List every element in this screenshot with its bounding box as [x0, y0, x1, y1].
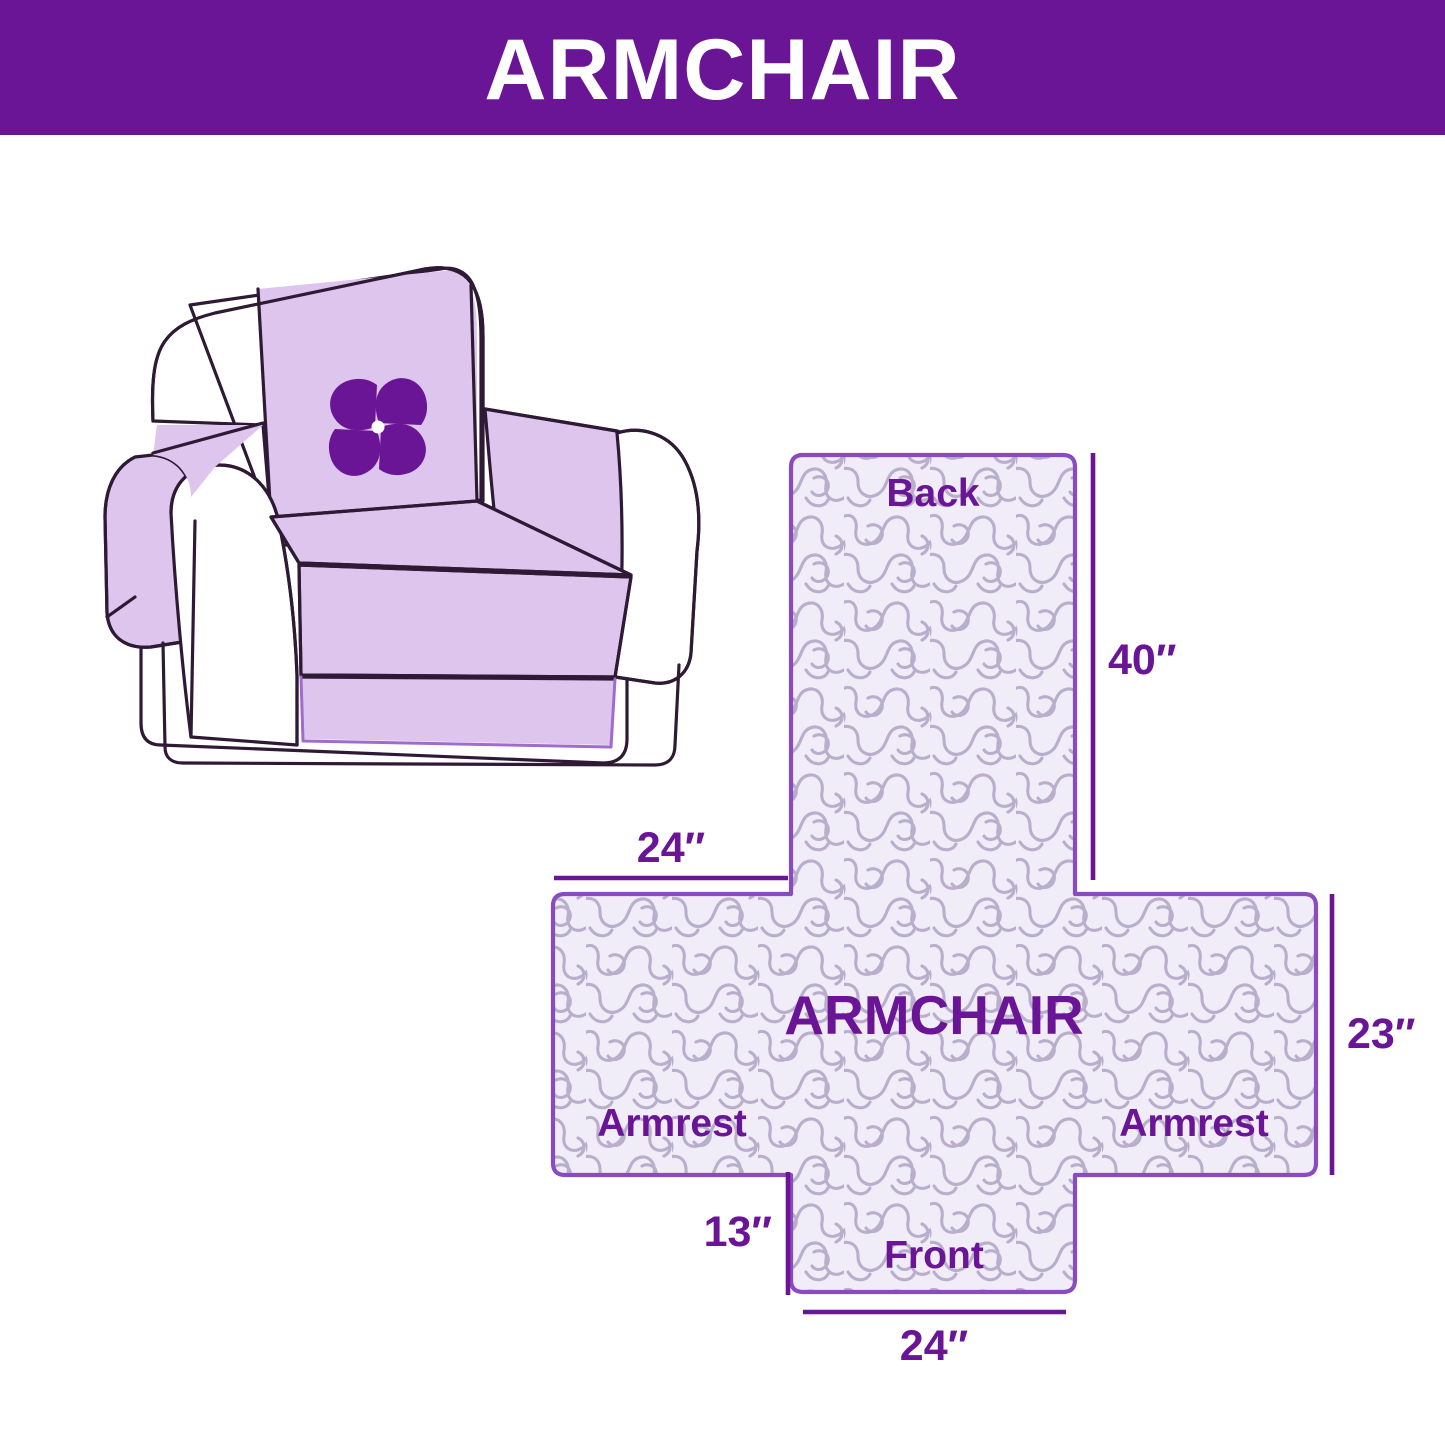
- svg-text:13″: 13″: [704, 1208, 772, 1256]
- panel-label-back: Back: [886, 472, 980, 515]
- dimension-front-width: 24″: [803, 1312, 1066, 1370]
- cover-layout-diagram: Back ARMCHAIR Armrest Armrest Front 40″ …: [500, 420, 1445, 1410]
- center-label-armchair: ARMCHAIR: [784, 984, 1083, 1046]
- dimension-front-height: 13″: [704, 1172, 788, 1295]
- dimension-back-width: 24″: [554, 824, 788, 878]
- dimension-seat-depth: 23″: [1332, 894, 1415, 1175]
- svg-text:40″: 40″: [1108, 636, 1176, 684]
- svg-text:24″: 24″: [900, 1322, 968, 1370]
- panel-label-armrest-left: Armrest: [597, 1102, 747, 1145]
- panel-label-front: Front: [884, 1234, 984, 1277]
- svg-text:24″: 24″: [637, 824, 705, 872]
- cover-cross-shape: [553, 455, 1316, 1292]
- panel-label-armrest-right: Armrest: [1119, 1102, 1269, 1145]
- svg-text:23″: 23″: [1347, 1010, 1415, 1058]
- page-title: ARMCHAIR: [484, 27, 960, 113]
- header-banner: ARMCHAIR: [0, 0, 1445, 135]
- product-diagram-page: ARMCHAIR: [0, 0, 1445, 1445]
- dimension-back-height: 40″: [1093, 453, 1176, 880]
